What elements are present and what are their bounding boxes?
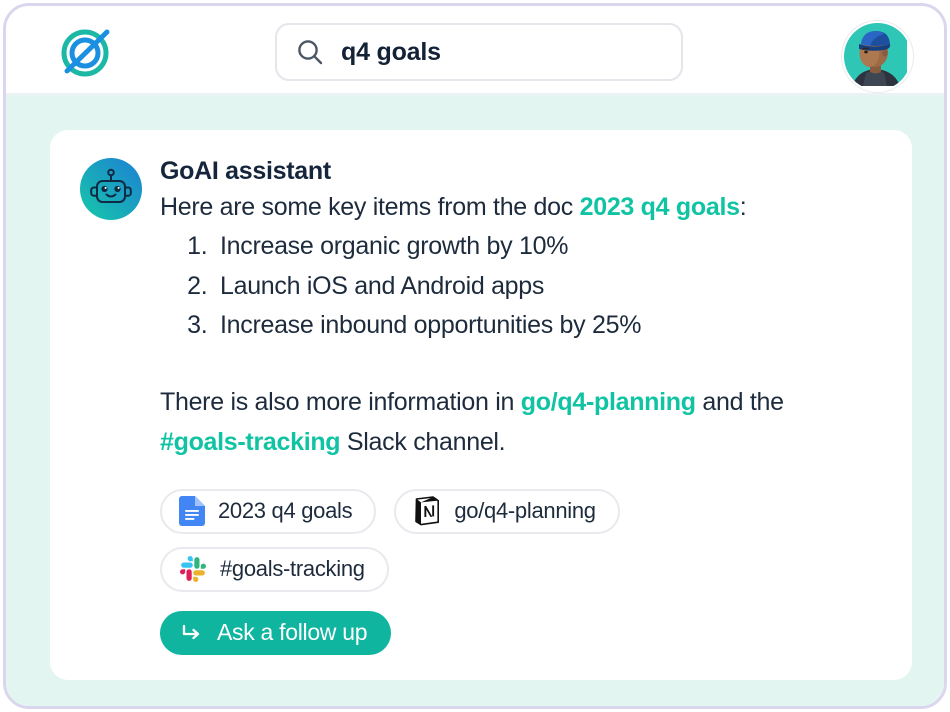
slack-icon [179,555,207,583]
user-avatar-image [844,23,907,86]
search-icon [295,37,325,67]
ask-follow-up-button[interactable]: Ask a follow up [160,611,391,655]
chip-2023-q4-goals[interactable]: 2023 q4 goals [160,489,376,534]
intro-text-before: Here are some key items from the doc [160,193,580,221]
assistant-name: GoAI assistant [160,158,882,186]
chip-label: 2023 q4 goals [218,498,352,524]
arrow-turn-right-icon [180,622,204,644]
chip-label: go/q4-planning [454,498,595,524]
intro-text-after: : [740,193,747,221]
intro-line: Here are some key items from the doc 202… [160,192,882,224]
ask-follow-up-label: Ask a follow up [217,619,367,646]
chip-goals-tracking[interactable]: #goals-tracking [160,547,389,592]
list-item: Increase inbound opportunities by 25% [214,306,882,346]
link-goals-tracking[interactable]: #goals-tracking [160,428,340,456]
chip-label: #goals-tracking [220,556,365,582]
goai-logo[interactable] [50,22,122,82]
list-item: Increase organic growth by 10% [214,227,882,267]
app-window: q4 goals [3,3,947,709]
link-go-q4-planning[interactable]: go/q4-planning [521,388,696,416]
card-header: GoAI assistant Here are some key items f… [80,156,882,655]
secondary-paragraph: There is also more information in go/q4-… [160,382,860,463]
list-item: Launch iOS and Android apps [214,267,882,307]
robot-icon [80,158,142,220]
search-input-value[interactable]: q4 goals [341,38,441,67]
goals-list: Increase organic growth by 10% Launch iO… [160,227,882,346]
card-body: GoAI assistant Here are some key items f… [160,156,882,655]
chip-go-q4-planning[interactable]: go/q4-planning [394,489,619,534]
para2-part1: There is also more information in [160,388,521,416]
goai-logo-icon [55,24,117,80]
google-docs-icon [179,496,205,526]
search-bar[interactable]: q4 goals [275,23,683,81]
source-chips: 2023 q4 goals [160,489,730,592]
assistant-answer-card: GoAI assistant Here are some key items f… [50,130,912,680]
notion-icon [413,496,441,526]
para2-part3: Slack channel. [340,428,505,456]
para2-part2: and the [696,388,784,416]
user-avatar[interactable] [842,21,913,92]
doc-link-2023-q4-goals[interactable]: 2023 q4 goals [580,193,740,221]
content-area: GoAI assistant Here are some key items f… [6,95,944,706]
top-bar: q4 goals [6,6,944,95]
